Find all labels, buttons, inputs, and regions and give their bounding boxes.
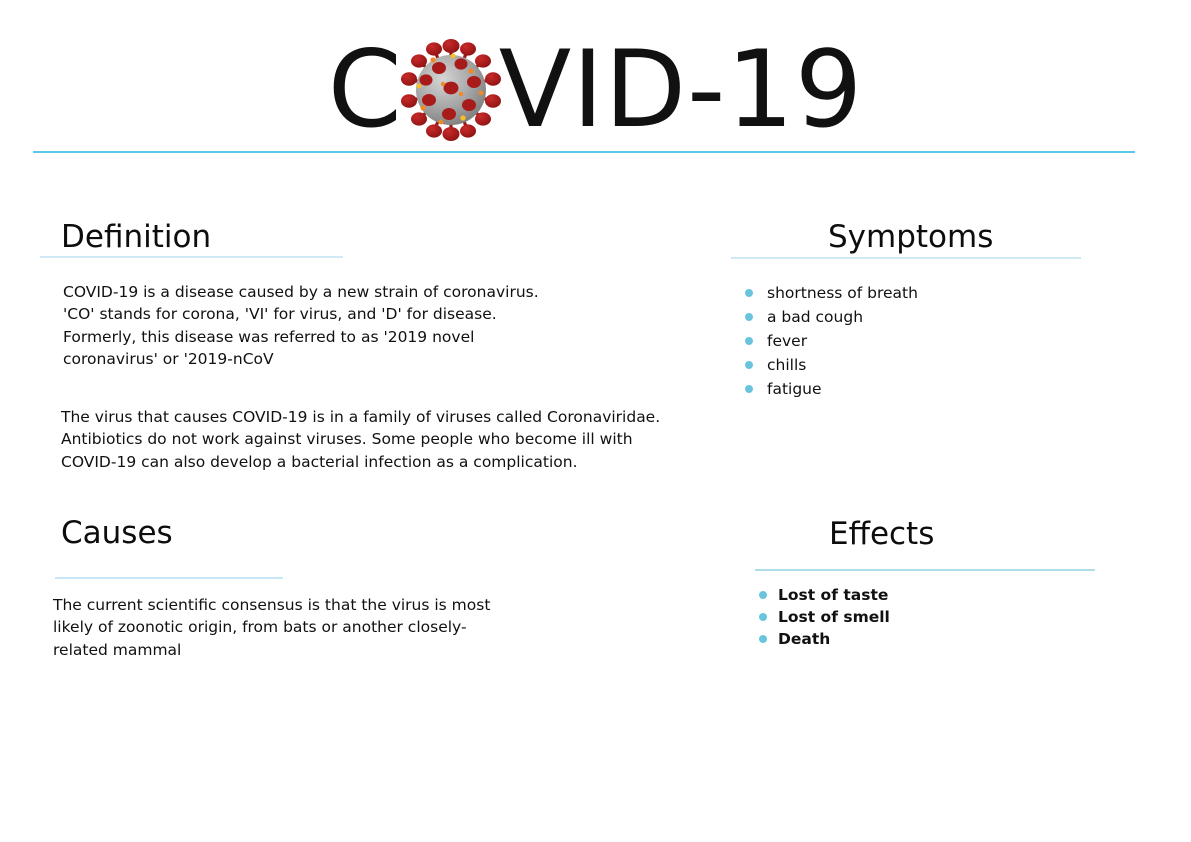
list-item-label: Lost of smell (778, 608, 890, 626)
list-item: fatigue (745, 377, 918, 401)
title-letter-c: C (328, 37, 403, 143)
definition-paragraph-2: The virus that causes COVID-19 is in a f… (61, 406, 701, 473)
list-item: fever (745, 329, 918, 353)
section-heading-effects: Effects (829, 519, 934, 550)
bullet-dot-icon (759, 635, 767, 643)
causes-paragraph: The current scientific consensus is that… (53, 594, 573, 661)
list-item-label: chills (767, 356, 806, 374)
bullet-dot-icon (745, 385, 753, 393)
list-item-label: Lost of taste (778, 586, 888, 604)
bullet-dot-icon (745, 361, 753, 369)
section-heading-definition: Definition (61, 222, 211, 253)
section-heading-causes: Causes (61, 518, 173, 549)
list-item-label: a bad cough (767, 308, 863, 326)
effects-list: Lost of taste Lost of smell Death (759, 584, 890, 650)
list-item-label: fatigue (767, 380, 822, 398)
list-item-label: Death (778, 630, 830, 648)
list-item: Lost of smell (759, 606, 890, 628)
symptoms-list: shortness of breath a bad cough fever ch… (745, 281, 918, 401)
section-heading-symptoms: Symptoms (828, 222, 993, 253)
bullet-dot-icon (759, 613, 767, 621)
causes-underline (55, 577, 283, 579)
list-item: Death (759, 628, 890, 650)
list-item: chills (745, 353, 918, 377)
bullet-dot-icon (745, 337, 753, 345)
list-item: a bad cough (745, 305, 918, 329)
list-item-label: shortness of breath (767, 284, 918, 302)
list-item: shortness of breath (745, 281, 918, 305)
definition-underline (40, 256, 343, 258)
coronavirus-particle-icon (399, 38, 503, 142)
page-title: C (0, 34, 1191, 146)
definition-paragraph-1: COVID-19 is a disease caused by a new st… (63, 281, 683, 371)
symptoms-underline (731, 257, 1081, 259)
title-text-vid19: VID-19 (499, 37, 864, 143)
effects-underline (755, 569, 1095, 571)
list-item-label: fever (767, 332, 807, 350)
bullet-dot-icon (745, 289, 753, 297)
list-item: Lost of taste (759, 584, 890, 606)
bullet-dot-icon (745, 313, 753, 321)
header-divider (33, 151, 1135, 153)
bullet-dot-icon (759, 591, 767, 599)
